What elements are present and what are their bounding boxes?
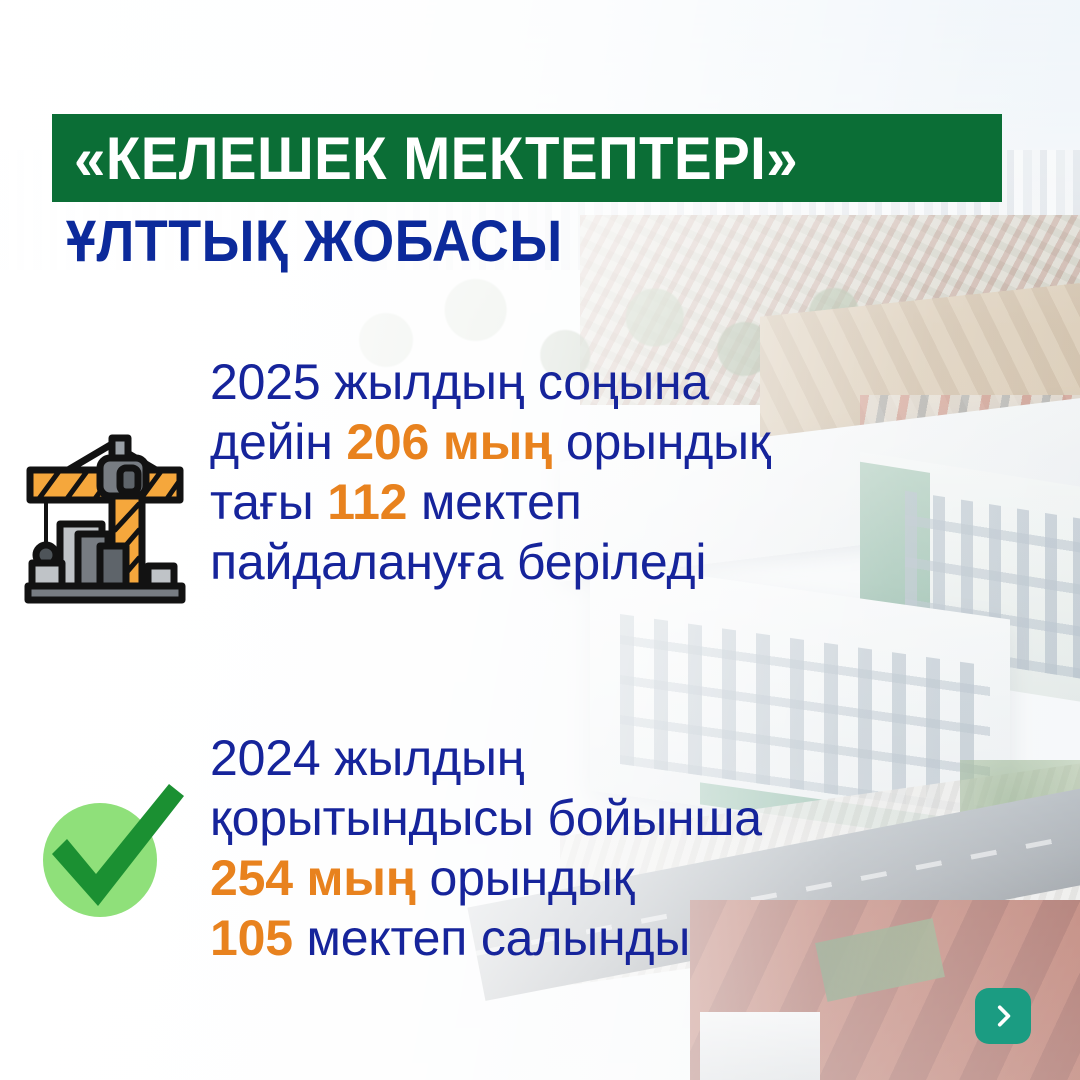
highlight-seats: 254 мың — [210, 850, 416, 906]
poster-title: «КЕЛЕШЕК МЕКТЕПТЕРІ» — [74, 124, 798, 193]
text-line: 2025 жылдың соңына — [210, 352, 1030, 412]
text-line: тағы 112 мектеп — [210, 472, 1030, 532]
stat-block-done-text: 2024 жылдың қорытындысы бойынша 254 мың … — [210, 728, 910, 968]
line-segment: орындық — [552, 414, 770, 470]
text-line: дейін 206 мың орындық — [210, 412, 1030, 472]
line-segment: пайдалануға беріледі — [210, 534, 706, 590]
poster-subtitle: ҰЛТТЫҚ ЖОБАСЫ — [66, 208, 563, 275]
line-segment: 2025 жылдың соңына — [210, 354, 709, 410]
line-segment: мектеп — [407, 474, 581, 530]
next-slide-button[interactable] — [975, 988, 1031, 1044]
poster-content: «КЕЛЕШЕК МЕКТЕПТЕРІ» ҰЛТТЫҚ ЖОБАСЫ — [0, 0, 1080, 1080]
line-segment: дейін — [210, 414, 346, 470]
line-segment: қорытындысы бойынша — [210, 790, 762, 846]
line-segment: 2024 жылдың — [210, 730, 524, 786]
stat-block-done: 2024 жылдың қорытындысы бойынша 254 мың … — [210, 728, 910, 968]
text-line: 254 мың орындық — [210, 848, 910, 908]
construction-crane-icon — [16, 418, 194, 606]
stat-block-future: 2025 жылдың соңына дейін 206 мың орындық… — [210, 352, 1030, 592]
line-segment: орындық — [416, 850, 634, 906]
text-line: 2024 жылдың — [210, 728, 910, 788]
text-line: пайдалануға беріледі — [210, 532, 1030, 592]
highlight-seats: 206 мың — [346, 414, 552, 470]
highlight-schools: 105 — [210, 910, 293, 966]
stat-block-future-text: 2025 жылдың соңына дейін 206 мың орындық… — [210, 352, 1030, 592]
infographic-poster: «КЕЛЕШЕК МЕКТЕПТЕРІ» ҰЛТТЫҚ ЖОБАСЫ — [0, 0, 1080, 1080]
highlight-schools: 112 — [327, 474, 407, 530]
line-segment: мектеп салынды — [293, 910, 690, 966]
line-segment: тағы — [210, 474, 327, 530]
chevron-right-icon — [990, 1003, 1016, 1029]
green-check-icon — [28, 782, 188, 932]
title-banner: «КЕЛЕШЕК МЕКТЕПТЕРІ» — [52, 114, 1002, 202]
text-line: қорытындысы бойынша — [210, 788, 910, 848]
text-line: 105 мектеп салынды — [210, 908, 910, 968]
